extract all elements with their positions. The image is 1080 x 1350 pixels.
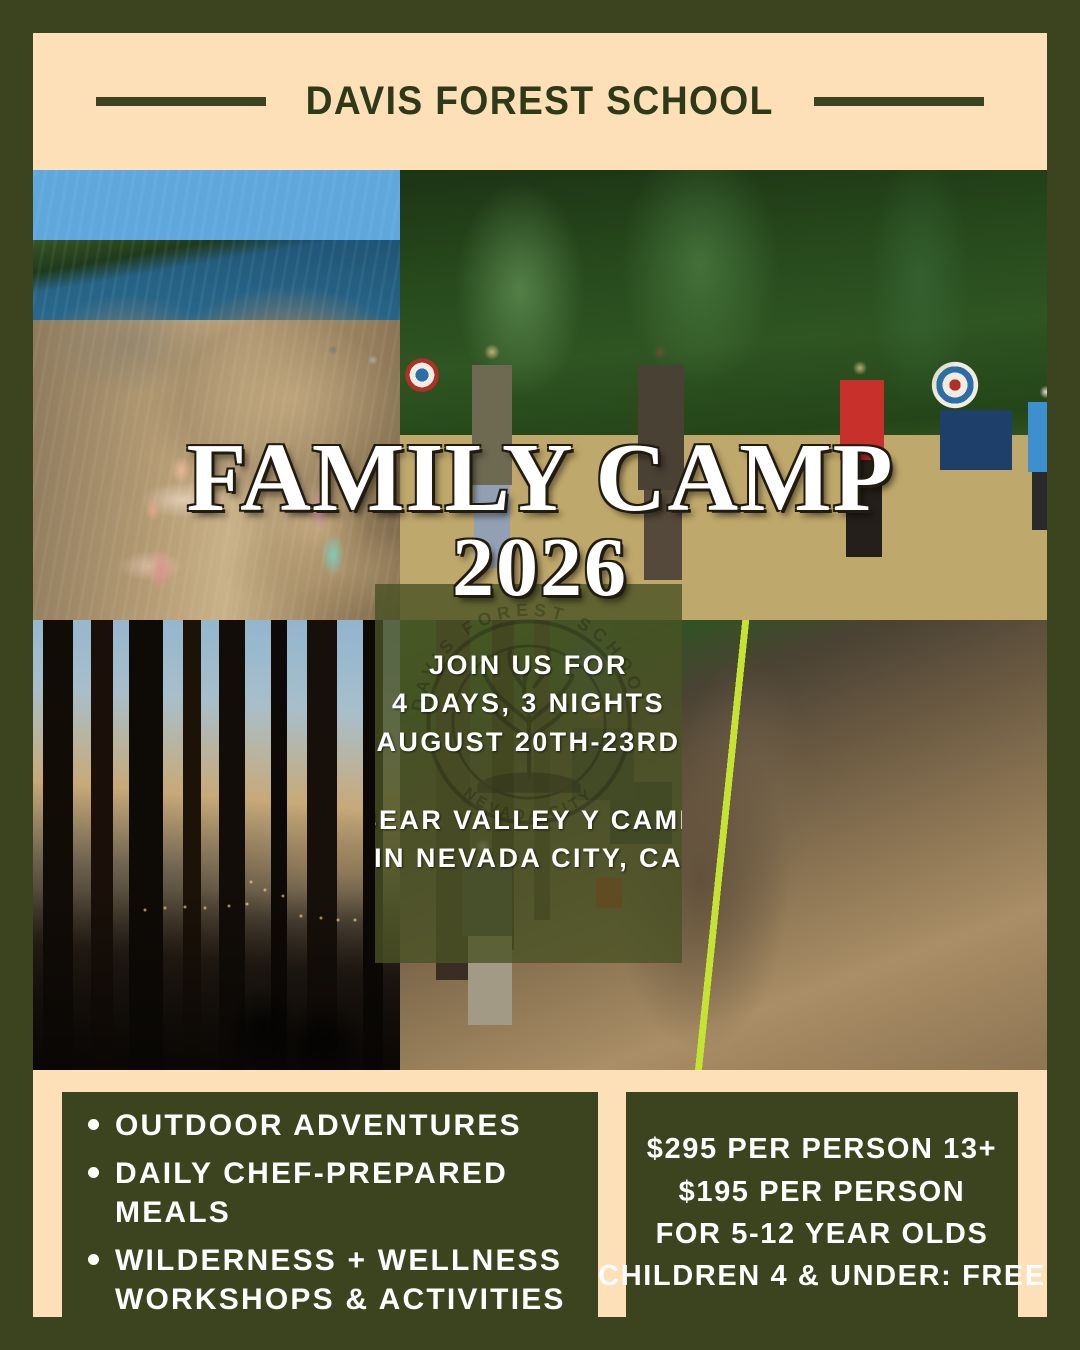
feature-label: WILDERNESS + WELLNESS WORKSHOPS & ACTIVI… — [115, 1242, 566, 1319]
feature-label: DAILY CHEF-PREPARED MEALS — [115, 1155, 582, 1232]
evening-string-lights-photo — [33, 620, 400, 1070]
details-line-dates: AUGUST 20TH-23RD — [377, 723, 681, 761]
pricing-panel: $295 PER PERSON 13+ $195 PER PERSON FOR … — [626, 1092, 1018, 1334]
details-line-duration: 4 DAYS, 3 NIGHTS — [392, 684, 665, 722]
feature-label-line1: WILDERNESS + WELLNESS — [115, 1244, 562, 1277]
details-line-venue: BEAR VALLEY Y CAMP — [375, 801, 682, 839]
price-child-age-range: FOR 5-12 YEAR OLDS — [656, 1213, 989, 1255]
header-rule-left-icon — [96, 97, 266, 106]
list-item: WILDERNESS + WELLNESS WORKSHOPS & ACTIVI… — [88, 1242, 582, 1319]
features-panel: OUTDOOR ADVENTURES DAILY CHEF-PREPARED M… — [62, 1092, 598, 1334]
details-line-location: IN NEVADA CITY, CA — [375, 839, 682, 877]
bottom-panels: OUTDOOR ADVENTURES DAILY CHEF-PREPARED M… — [62, 1092, 1018, 1295]
details-text-block: JOIN US FOR 4 DAYS, 3 NIGHTS AUGUST 20TH… — [375, 584, 682, 963]
price-child: $195 PER PERSON — [679, 1171, 966, 1213]
bullet-icon — [88, 1254, 99, 1265]
poster: DAVIS FOREST SCHOOL DAVI — [0, 0, 1080, 1350]
archery-range-photo — [400, 170, 1047, 620]
feature-label-line2: WORKSHOPS & ACTIVITIES — [115, 1283, 566, 1316]
header-rule-right-icon — [814, 97, 984, 106]
header: DAVIS FOREST SCHOOL — [33, 33, 1047, 170]
details-line-join: JOIN US FOR — [429, 646, 628, 684]
list-item: DAILY CHEF-PREPARED MEALS — [88, 1155, 582, 1232]
list-item: OUTDOOR ADVENTURES — [88, 1107, 582, 1145]
bullet-icon — [88, 1167, 99, 1178]
poster-inner-card: DAVIS FOREST SCHOOL DAVI — [33, 33, 1047, 1317]
price-adult: $295 PER PERSON 13+ — [647, 1128, 997, 1170]
bullet-icon — [88, 1119, 99, 1130]
brand-title: DAVIS FOREST SCHOOL — [306, 79, 774, 124]
details-overlay-panel: DAVIS FOREST SCHOOL NEVADA CITY — [375, 584, 682, 963]
feature-label: OUTDOOR ADVENTURES — [115, 1107, 522, 1145]
swimming-hole-photo — [33, 170, 400, 620]
price-free-under-four: CHILDREN 4 & UNDER: FREE — [598, 1255, 1046, 1297]
